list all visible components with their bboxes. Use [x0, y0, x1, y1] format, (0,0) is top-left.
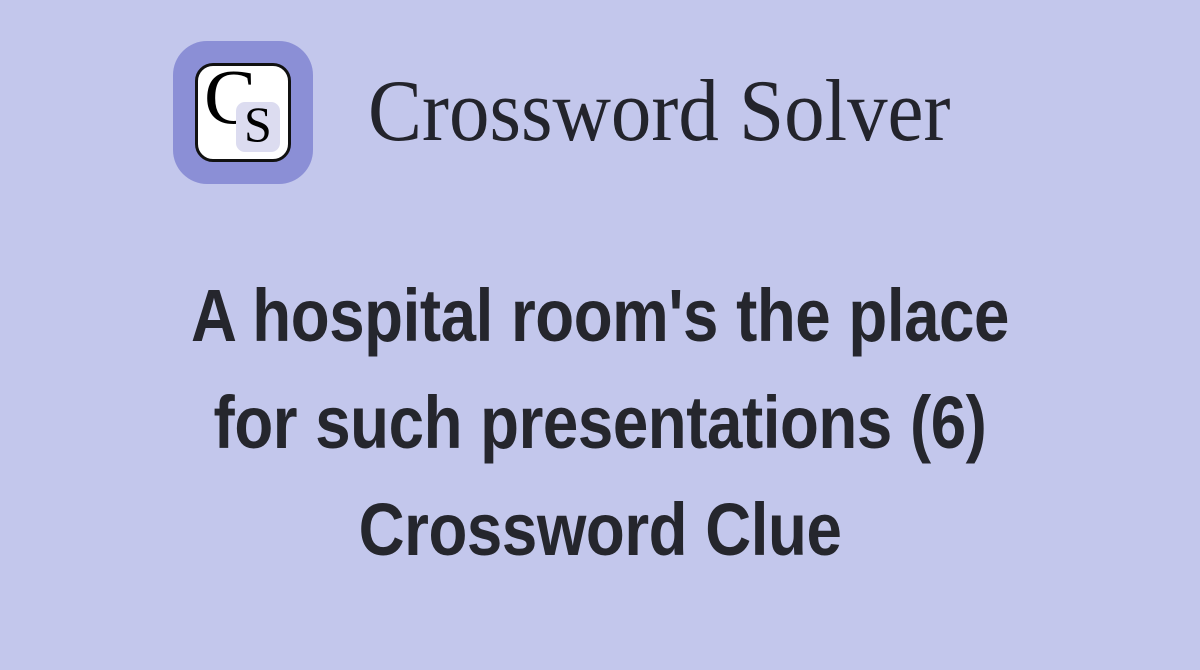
site-header: C S Crossword Solver — [0, 40, 1200, 184]
logo-inner-panel: C S — [195, 63, 291, 162]
site-title[interactable]: Crossword Solver — [368, 68, 950, 156]
logo-letter-s: S — [244, 99, 272, 149]
page-title: A hospital room's the place for such pre… — [170, 262, 1030, 583]
page-root: C S Crossword Solver A hospital room's t… — [0, 0, 1200, 670]
crossword-solver-logo-icon[interactable]: C S — [173, 41, 313, 184]
